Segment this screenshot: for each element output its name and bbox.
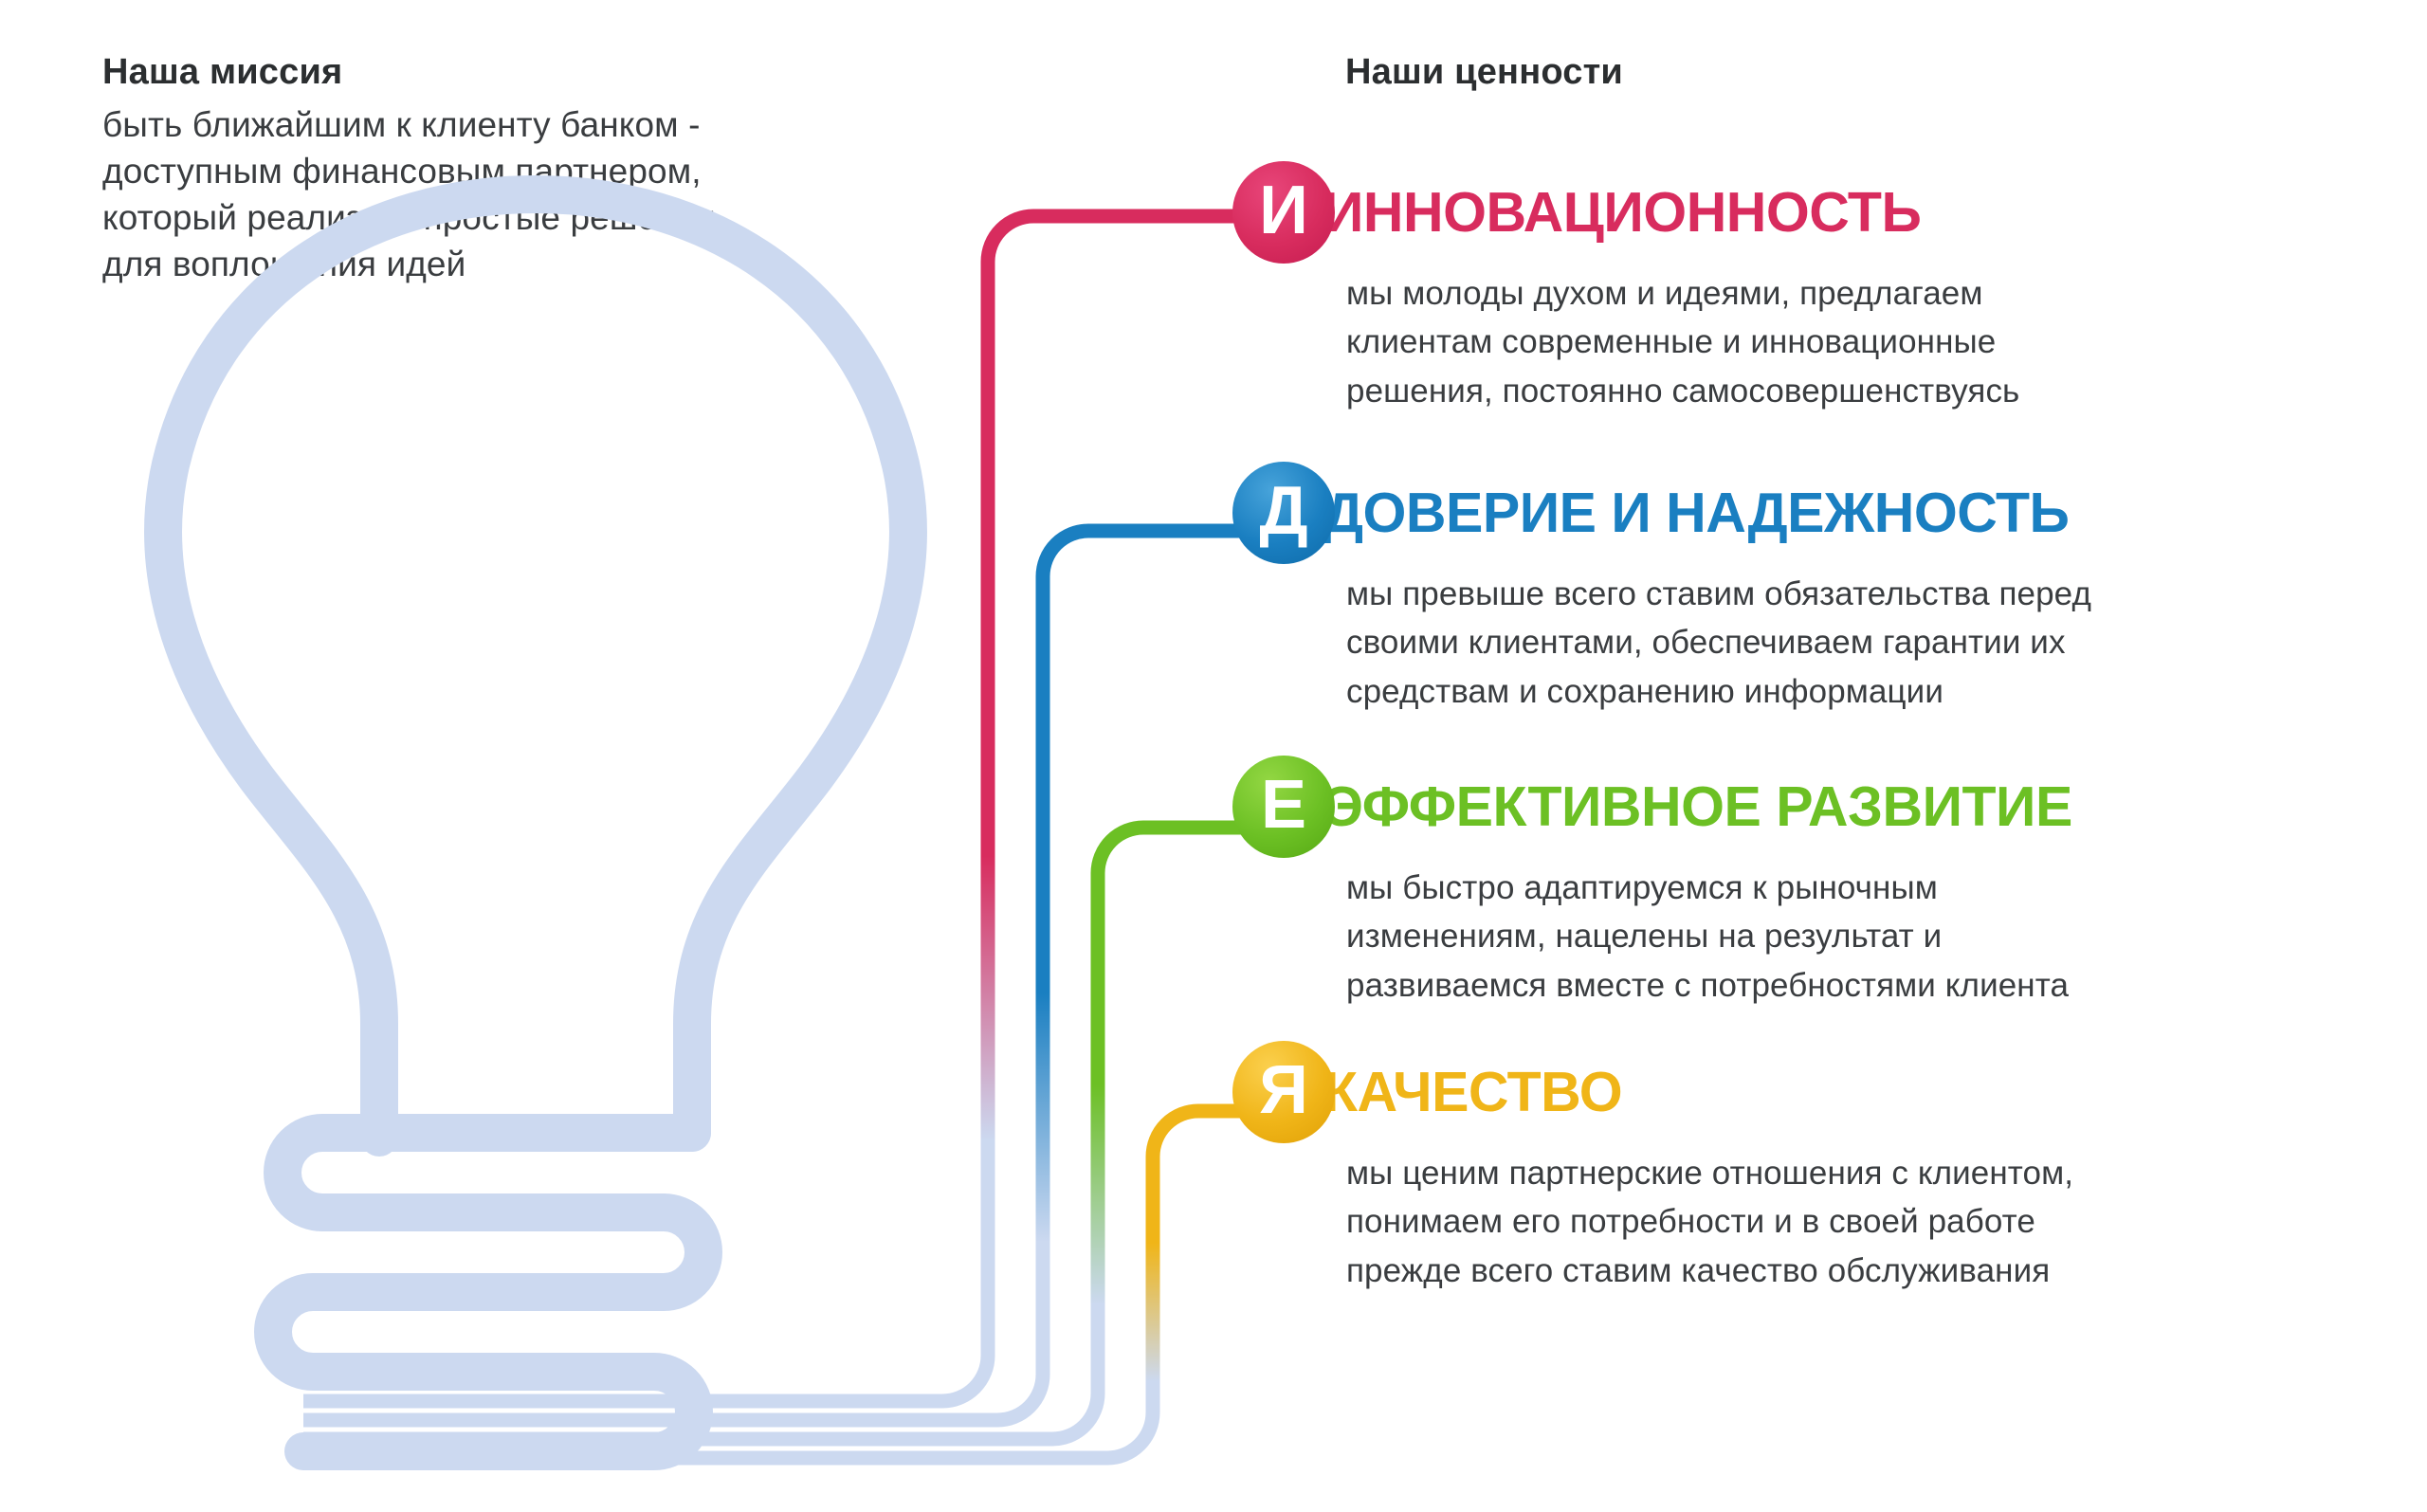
infographic-canvas: Наша миссия быть ближайшим к клиенту бан… xyxy=(0,0,2427,1512)
value-badge-icon: Е xyxy=(1232,756,1335,858)
value-badge-icon: Д xyxy=(1232,462,1335,564)
value-title: ДОВЕРИЕ И НАДЕЖНОСТЬ xyxy=(1323,485,2069,541)
value-title: ИННОВАЦИОННОСТЬ xyxy=(1323,185,1921,241)
value-title: КАЧЕСТВО xyxy=(1323,1065,1622,1120)
value-badge-icon: Я xyxy=(1232,1041,1335,1143)
value-title: ЭФФЕКТИВНОЕ РАЗВИТИЕ xyxy=(1323,779,2072,835)
connector-wires xyxy=(0,0,2427,1512)
value-badge-icon: И xyxy=(1232,161,1335,264)
